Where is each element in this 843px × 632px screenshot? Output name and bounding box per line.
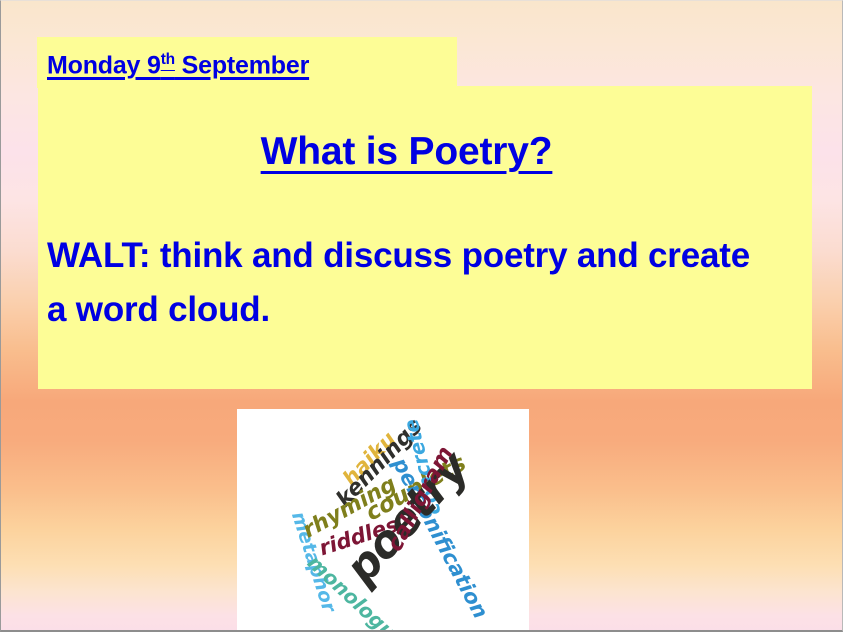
lesson-date-suffix: September [175, 51, 309, 79]
slide-title-text: What is Poetry? [261, 130, 553, 173]
slide-canvas: Monday 9th September What is Poetry? WAL… [0, 0, 843, 632]
word-cloud-image: metaphor monologue haiku kennings rhymin… [237, 409, 529, 631]
lesson-date: Monday 9th September [47, 45, 309, 80]
lesson-date-ordinal: th [161, 51, 175, 68]
learning-objective: WALT: think and discuss poetry and creat… [47, 229, 777, 337]
word-cloud-stage: metaphor monologue haiku kennings rhymin… [237, 409, 529, 631]
slide-title: What is Poetry? [1, 129, 812, 175]
lesson-date-prefix: Monday 9 [47, 51, 161, 79]
